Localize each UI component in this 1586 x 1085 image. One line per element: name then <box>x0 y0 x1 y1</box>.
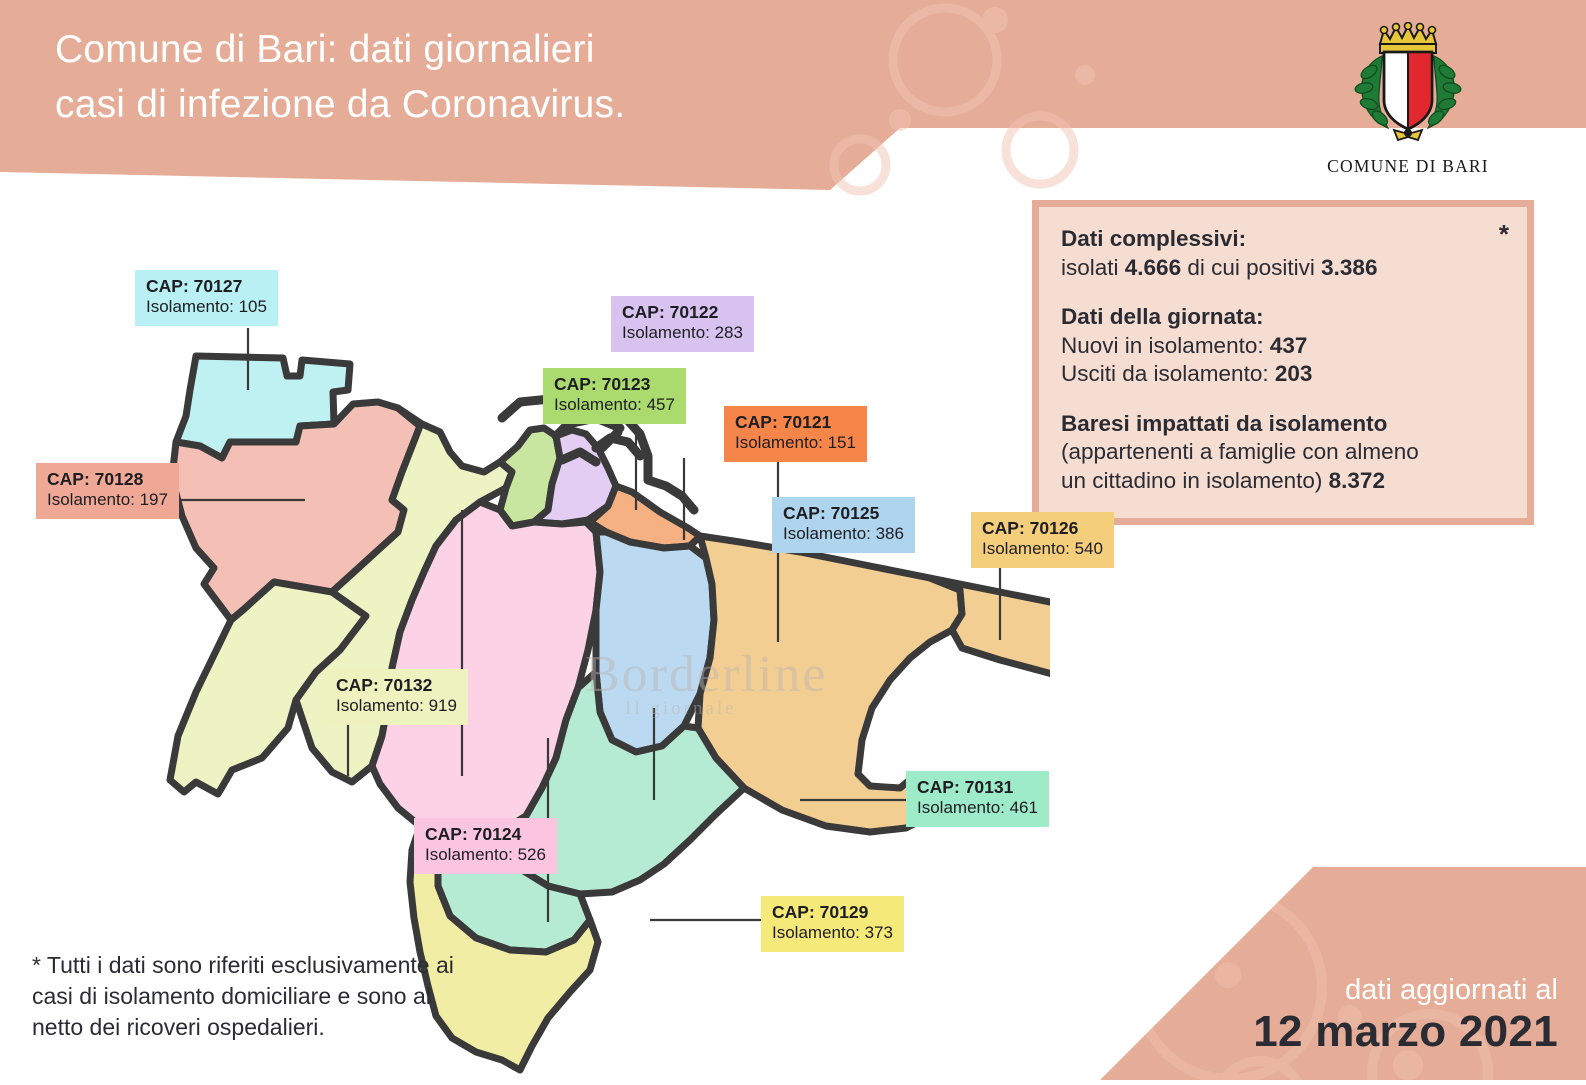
cap-label-70121[interactable]: CAP: 70121 Isolamento: 151 <box>724 406 867 462</box>
cap-code-70127: CAP: 70127 <box>146 276 267 297</box>
footnote-line1: * Tutti i dati sono riferiti esclusivame… <box>32 950 592 981</box>
cap-iso-70127: Isolamento: 105 <box>146 297 267 318</box>
stats-impattati-line1: (appartenenti a famiglie con almeno <box>1061 438 1505 467</box>
positivi-value: 3.386 <box>1321 255 1377 280</box>
nuovi-label: Nuovi in isolamento: <box>1061 333 1270 358</box>
positivi-prefix: di cui positivi <box>1181 255 1321 280</box>
cap-label-70127[interactable]: CAP: 70127 Isolamento: 105 <box>135 270 278 326</box>
cap-code-70121: CAP: 70121 <box>735 412 856 433</box>
stats-line-isolati: isolati 4.666 di cui positivi 3.386 <box>1061 254 1505 283</box>
page-title: Comune di Bari: dati giornalieri casi di… <box>55 22 915 133</box>
logo-caption: COMUNE DI BARI <box>1308 156 1508 177</box>
cap-code-70124: CAP: 70124 <box>425 824 546 845</box>
nuovi-value: 437 <box>1270 333 1308 358</box>
cap-code-70122: CAP: 70122 <box>622 302 743 323</box>
footnote-line3: netto dei ricoveri ospedalieri. <box>32 1012 592 1043</box>
cap-code-70132: CAP: 70132 <box>336 675 457 696</box>
stats-heading-impattati: Baresi impattati da isolamento <box>1061 410 1505 439</box>
usciti-label: Usciti da isolamento: <box>1061 361 1275 386</box>
comune-di-bari-logo: COMUNE DI BARI <box>1308 22 1508 177</box>
ribbon-icon <box>1394 129 1422 140</box>
footnote-line2: casi di isolamento domiciliare e sono al <box>32 981 592 1012</box>
cap-iso-70122: Isolamento: 283 <box>622 323 743 344</box>
impattati-prefix: un cittadino in isolamento) <box>1061 468 1329 493</box>
isolati-value: 4.666 <box>1125 255 1181 280</box>
stats-heading-giornata: Dati della giornata: <box>1061 303 1505 332</box>
stats-impattati-line2: un cittadino in isolamento) 8.372 <box>1061 467 1505 496</box>
cap-label-70132[interactable]: CAP: 70132 Isolamento: 919 <box>325 669 468 725</box>
cap-iso-70123: Isolamento: 457 <box>554 395 675 416</box>
cap-label-70122[interactable]: CAP: 70122 Isolamento: 283 <box>611 296 754 352</box>
page-title-line2: casi di infezione da Coronavirus. <box>55 77 915 132</box>
cap-label-70123[interactable]: CAP: 70123 Isolamento: 457 <box>543 368 686 424</box>
cap-label-70125[interactable]: CAP: 70125 Isolamento: 386 <box>772 497 915 553</box>
date-text-group: dati aggiornati al 12 marzo 2021 <box>1253 974 1558 1056</box>
cap-code-70126: CAP: 70126 <box>982 518 1103 539</box>
cap-label-70129[interactable]: CAP: 70129 Isolamento: 373 <box>761 896 904 952</box>
footnote: * Tutti i dati sono riferiti esclusivame… <box>32 950 592 1042</box>
isolati-prefix: isolati <box>1061 255 1125 280</box>
stats-block-impattati: Baresi impattati da isolamento (apparten… <box>1061 410 1505 496</box>
usciti-value: 203 <box>1275 361 1313 386</box>
cap-iso-70128: Isolamento: 197 <box>47 490 168 511</box>
cap-label-70128[interactable]: CAP: 70128 Isolamento: 197 <box>36 463 179 519</box>
impattati-value: 8.372 <box>1329 468 1385 493</box>
cap-iso-70125: Isolamento: 386 <box>783 524 904 545</box>
cap-iso-70124: Isolamento: 526 <box>425 845 546 866</box>
crown-icon <box>1380 23 1436 54</box>
cap-code-70128: CAP: 70128 <box>47 469 168 490</box>
stats-block-giornata: Dati della giornata: Nuovi in isolamento… <box>1061 303 1505 389</box>
stats-block-complessivi: Dati complessivi: isolati 4.666 di cui p… <box>1061 225 1505 282</box>
cap-code-70123: CAP: 70123 <box>554 374 675 395</box>
cap-iso-70129: Isolamento: 373 <box>772 923 893 944</box>
stats-panel: * Dati complessivi: isolati 4.666 di cui… <box>1032 200 1534 525</box>
date-banner: dati aggiornati al 12 marzo 2021 <box>1100 867 1586 1080</box>
stats-heading-complessivi: Dati complessivi: <box>1061 225 1505 254</box>
stats-line-nuovi: Nuovi in isolamento: 437 <box>1061 332 1505 361</box>
cap-iso-70126: Isolamento: 540 <box>982 539 1103 560</box>
stats-line-usciti: Usciti da isolamento: 203 <box>1061 360 1505 389</box>
stats-asterisk: * <box>1499 221 1509 247</box>
cap-code-70125: CAP: 70125 <box>783 503 904 524</box>
coat-of-arms-icon <box>1338 22 1478 147</box>
cap-iso-70121: Isolamento: 151 <box>735 433 856 454</box>
page-title-line1: Comune di Bari: dati giornalieri <box>55 22 915 77</box>
cap-label-70124[interactable]: CAP: 70124 Isolamento: 526 <box>414 818 557 874</box>
date-value: 12 marzo 2021 <box>1253 1008 1558 1056</box>
cap-code-70129: CAP: 70129 <box>772 902 893 923</box>
cap-label-70131[interactable]: CAP: 70131 Isolamento: 461 <box>906 771 1049 827</box>
cap-iso-70131: Isolamento: 461 <box>917 798 1038 819</box>
cap-label-70126[interactable]: CAP: 70126 Isolamento: 540 <box>971 512 1114 568</box>
cap-iso-70132: Isolamento: 919 <box>336 696 457 717</box>
shield-icon <box>1384 52 1432 129</box>
date-label: dati aggiornati al <box>1253 974 1558 1007</box>
cap-code-70131: CAP: 70131 <box>917 777 1038 798</box>
